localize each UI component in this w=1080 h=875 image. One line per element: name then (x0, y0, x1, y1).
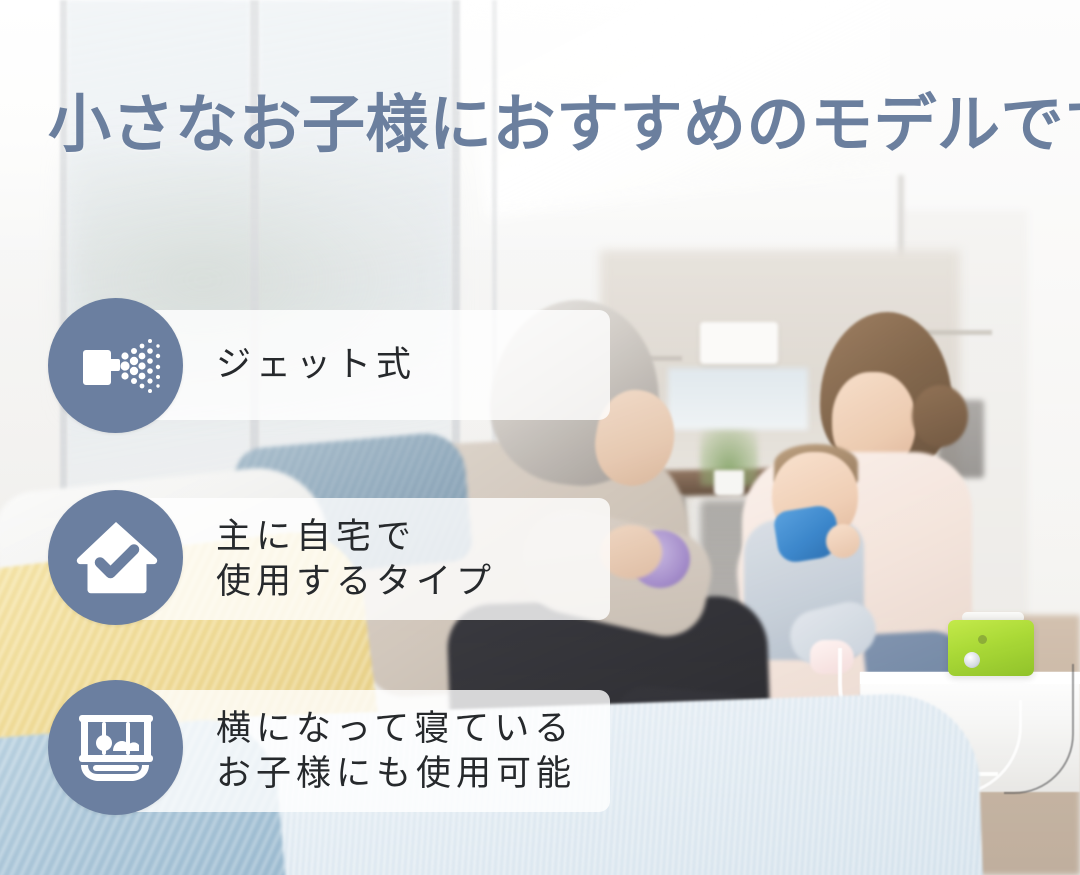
feature-label: 横になって寝ている お子様にも使用可能 (216, 706, 576, 797)
feature-badge-home-use: 主に自宅で 使用するタイプ (48, 490, 183, 625)
baby-crib-icon (48, 680, 183, 815)
feature-panel: 横になって寝ている お子様にも使用可能 (116, 690, 610, 812)
feature-badge-jet-type: ジェット式 (48, 298, 183, 433)
feature-panel: ジェット式 (116, 310, 610, 420)
feature-label: 主に自宅で 使用するタイプ (216, 514, 496, 605)
feature-badge-list: ジェット式 (0, 0, 1080, 875)
home-check-icon (48, 490, 183, 625)
feature-badge-lying-down: 横になって寝ている お子様にも使用可能 (48, 680, 183, 815)
feature-label: ジェット式 (216, 342, 416, 388)
nebulizer-spray-icon (48, 298, 183, 433)
feature-panel: 主に自宅で 使用するタイプ (116, 498, 610, 620)
product-banner: 小さなお子様におすすめのモデルです。 ジェット式 (0, 0, 1080, 875)
